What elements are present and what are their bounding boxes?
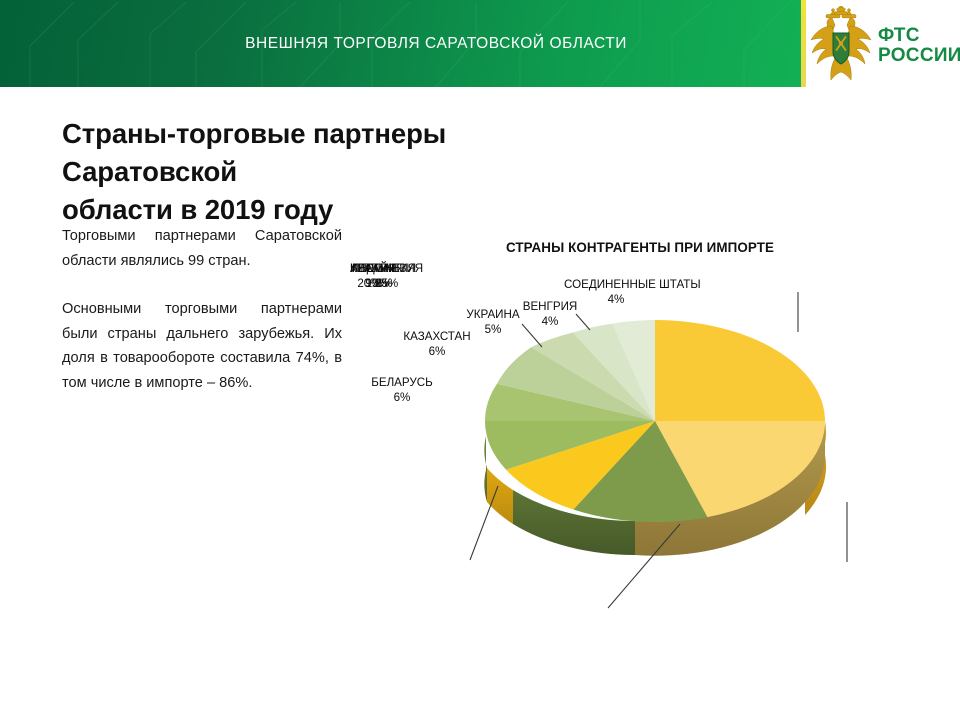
pie-label-ukraine-name: УКРАИНА xyxy=(458,308,528,323)
pie-chart: СОЕДИНЕННЫЕ ШТАТЫ 4% ВЕНГРИЯ 4% УКРАИНА … xyxy=(350,262,960,652)
page-title: Страны-торговые партнеры Саратовской обл… xyxy=(62,115,602,229)
body-text: Торговыми партнерами Саратовской области… xyxy=(62,224,342,395)
pie-slice-indonesia xyxy=(655,320,825,421)
pie-label-kazakhstan-name: КАЗАХСТАН xyxy=(395,330,479,345)
logo-line-1: ФТС xyxy=(878,26,960,46)
chart-title: СТРАНЫ КОНТРАГЕНТЫ ПРИ ИМПОРТЕ xyxy=(430,240,850,255)
logo-line-2: РОССИИ xyxy=(878,46,960,66)
pie-label-indonesia-name: ИНДОНЕЗИЯ xyxy=(350,262,423,277)
page-title-line-1: Страны-торговые партнеры Саратовской xyxy=(62,115,602,191)
pie-label-kazakhstan: КАЗАХСТАН 6% xyxy=(395,330,479,359)
header-banner: ВНЕШНЯЯ ТОРГОВЛЯ САРАТОВСКОЙ ОБЛАСТИ xyxy=(0,0,801,87)
pie-side-italy xyxy=(487,468,513,524)
pie-label-indonesia: ИНДОНЕЗИЯ 25% xyxy=(350,262,423,291)
header-title: ВНЕШНЯЯ ТОРГОВЛЯ САРАТОВСКОЙ ОБЛАСТИ xyxy=(0,0,795,87)
pie-label-indonesia-value: 25% xyxy=(350,277,423,292)
pie-chart-svg xyxy=(350,262,960,652)
pie-label-belarus-name: БЕЛАРУСЬ xyxy=(363,376,441,391)
header-accent-stripe xyxy=(801,0,806,87)
double-headed-eagle-icon xyxy=(808,6,874,86)
pie-label-belarus: БЕЛАРУСЬ 6% xyxy=(363,376,441,405)
body-paragraph-2: Основными торговыми партнерами были стра… xyxy=(62,297,342,395)
logo-wordmark: ФТС РОССИИ xyxy=(878,26,960,66)
body-paragraph-1: Торговыми партнерами Саратовской области… xyxy=(62,224,342,273)
fts-russia-logo: ФТС РОССИИ xyxy=(808,4,956,88)
pie-side-germany xyxy=(484,436,487,502)
pie-label-kazakhstan-value: 6% xyxy=(395,345,479,360)
pie-label-usa-name: СОЕДИНЕННЫЕ ШТАТЫ xyxy=(564,278,668,293)
paragraph-spacer xyxy=(62,273,342,297)
pie-label-belarus-value: 6% xyxy=(363,391,441,406)
slide: ВНЕШНЯЯ ТОРГОВЛЯ САРАТОВСКОЙ ОБЛАСТИ xyxy=(0,0,960,720)
